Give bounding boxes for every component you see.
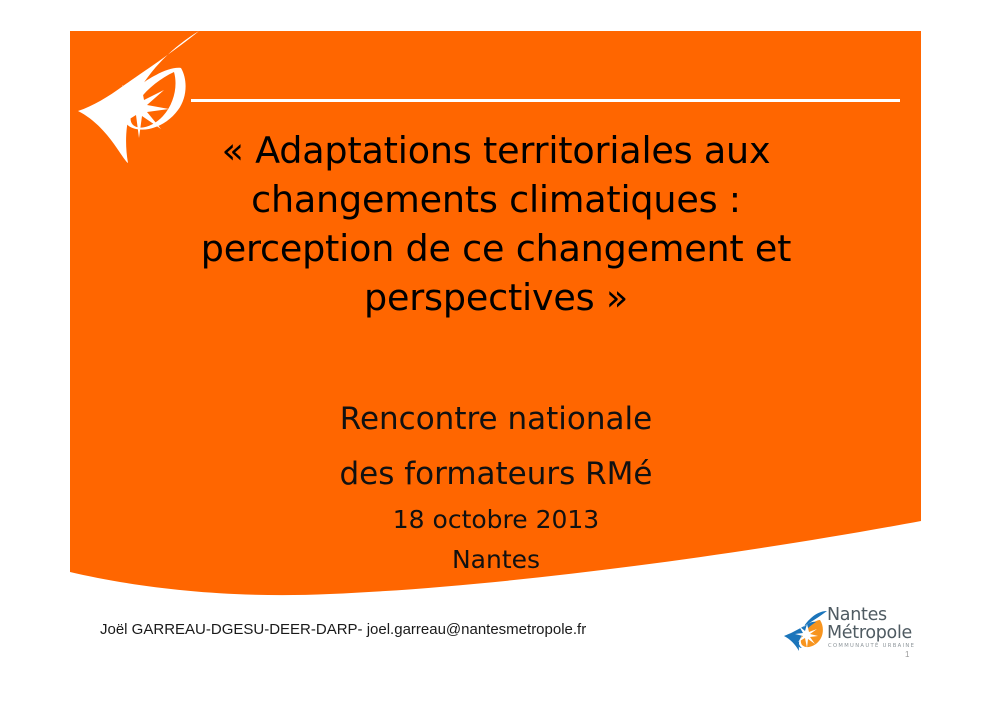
subtitle-line-2: des formateurs RMé xyxy=(96,447,896,502)
title-line-2: changements climatiques : xyxy=(96,175,896,224)
page-title: « Adaptations territoriales aux changeme… xyxy=(96,126,896,322)
nantes-metropole-logo: Nantes Métropole COMMUNAUTÉ URBAINE xyxy=(783,606,923,658)
slide-canvas: « Adaptations territoriales aux changeme… xyxy=(0,0,992,701)
footer-credit: Joël GARREAU-DGESU-DEER-DARP- joel.garre… xyxy=(100,621,586,638)
subtitle-line-1: Rencontre nationale xyxy=(96,392,896,447)
header-divider xyxy=(191,99,900,102)
logo-text-nantes: Nantes xyxy=(827,606,925,624)
logo-text-metropole: Métropole xyxy=(827,624,925,642)
event-date: 18 octobre 2013 xyxy=(96,500,896,540)
title-line-4: perspectives » xyxy=(96,273,896,322)
event-city: Nantes xyxy=(96,540,896,580)
title-line-3: perception de ce changement et xyxy=(96,224,896,273)
nantes-metropole-mark-icon xyxy=(783,608,829,654)
title-line-1: « Adaptations territoriales aux xyxy=(96,126,896,175)
logo-tagline: COMMUNAUTÉ URBAINE xyxy=(827,642,925,651)
subtitle: Rencontre nationale des formateurs RMé xyxy=(96,392,896,502)
page-number: 1 xyxy=(905,650,909,659)
event-details: 18 octobre 2013 Nantes xyxy=(96,500,896,580)
nantes-metropole-wordmark: Nantes Métropole COMMUNAUTÉ URBAINE xyxy=(827,606,925,651)
